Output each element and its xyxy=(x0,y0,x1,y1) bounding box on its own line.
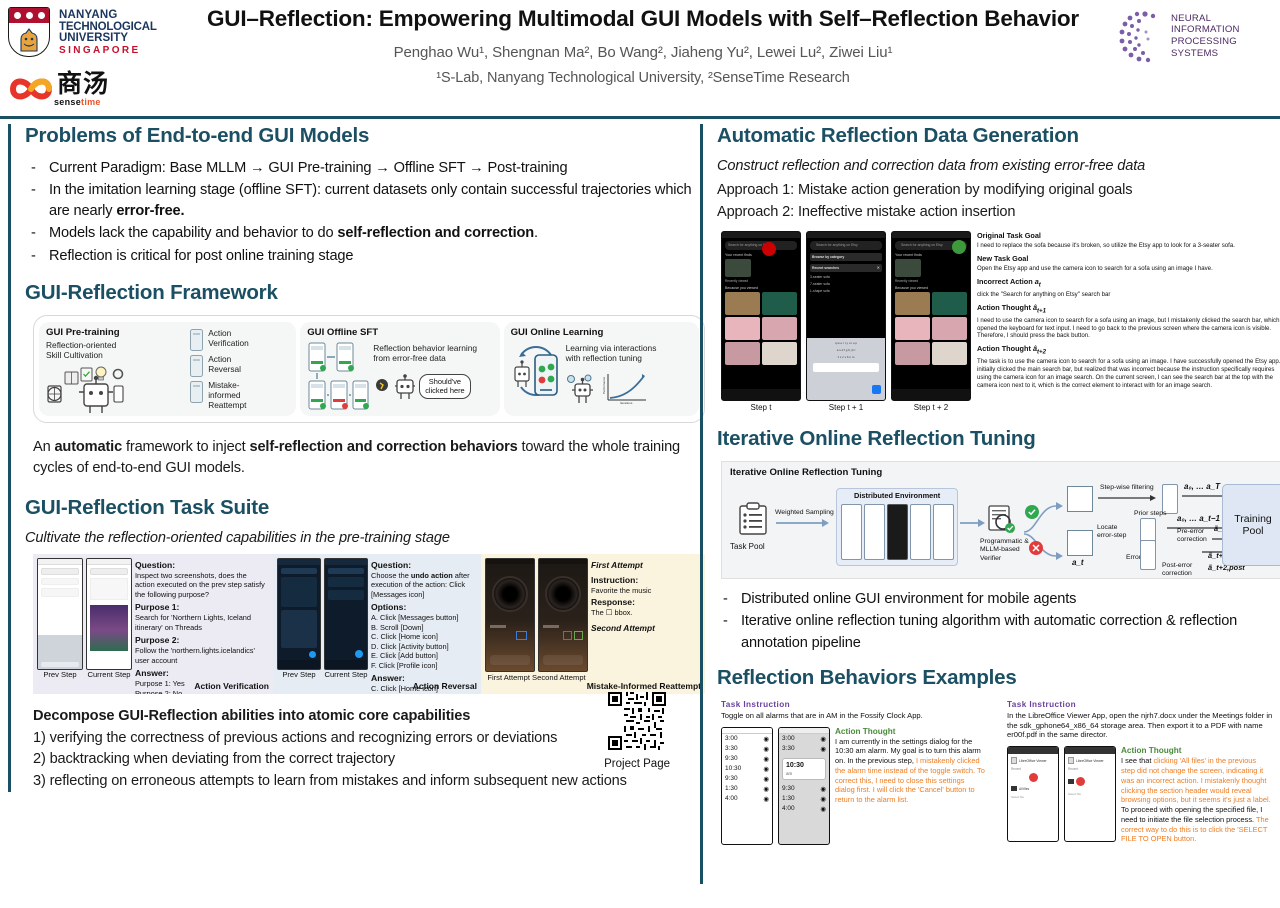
instruction-heading: Instruction: xyxy=(591,575,695,586)
svg-text:Performance: Performance xyxy=(602,376,606,394)
browse-category-label: Browse by category xyxy=(812,255,844,259)
sensetime-logo: 商汤 sensetime xyxy=(8,68,168,110)
idea-bulb-icon xyxy=(373,377,391,397)
framework-caption: An automatic framework to inject self-re… xyxy=(33,437,693,480)
arrow-right-icon xyxy=(776,518,830,528)
online-tuning-bullets: Distributed online GUI environment for m… xyxy=(717,589,1278,653)
block-body: I need to replace the sofa because it's … xyxy=(977,242,1280,250)
purpose-2-body: Follow the 'northern.lights.icelandics' … xyxy=(135,646,267,665)
task-panel-action-verification: Prev Step Current Step xyxy=(33,554,273,694)
training-pool-label: Training Pool xyxy=(1223,513,1280,538)
section-problems-title: Problems of End-to-end GUI Models xyxy=(25,124,692,148)
reflection-example-1: Task Instruction Toggle on all alarms th… xyxy=(721,700,995,884)
screenshot-step-t-plus-2: Search for anything on Etsy Your recent … xyxy=(891,231,971,401)
label-current-step: Current Step xyxy=(86,670,132,679)
task-panel-mistake-reattempt: First Attempt Second Attempt First Attem… xyxy=(481,554,705,694)
header-divider xyxy=(0,116,1280,119)
purpose-1-heading: Purpose 1: xyxy=(135,602,267,613)
block-body: Open the Etsy app and use the camera ico… xyxy=(977,265,1280,273)
screenshot-alarm-list: 3:00◉ 3:30◉ 9:30◉ 10:30◉ 9:30◉ 1:30◉ 4:0… xyxy=(721,727,773,845)
verifier-icon xyxy=(986,504,1018,536)
option-item: A. Click [Messages button] xyxy=(371,613,477,622)
screenshot-step-t: Search for anything on Etsy Your recent … xyxy=(721,231,801,401)
recent-search-item[interactable]: L-shape sofa xyxy=(810,289,882,293)
project-page-qr[interactable]: Project Page xyxy=(604,692,670,770)
section-online-tuning-title: Iterative Online Reflection Tuning xyxy=(717,427,1278,451)
figure-title: Iterative Online Reflection Tuning xyxy=(730,467,882,478)
robot-icon xyxy=(566,374,600,404)
sensetime-cn-text: 商汤 xyxy=(57,72,109,97)
list-item: Current Paradigm: Base MLLM → GUI Pre-tr… xyxy=(25,158,692,179)
option-item: B. Scroll [Down] xyxy=(371,623,477,632)
trajectory-stack-success xyxy=(1067,486,1093,512)
click-marker-red xyxy=(1076,777,1085,786)
action-thought-body: I am currently in the settings dialog fo… xyxy=(835,737,985,805)
problems-list: Current Paradigm: Base MLLM → GUI Pre-tr… xyxy=(25,158,692,267)
datagen-phone-strip: Search for anything on Etsy Your recent … xyxy=(721,231,971,419)
sensetime-infinity-icon xyxy=(8,74,54,104)
second-attempt-label: Second Attempt xyxy=(591,623,695,634)
action-reversal-icon xyxy=(190,355,203,377)
arrow-right-icon xyxy=(960,518,986,528)
author-list: Penghao Wu¹, Shengnan Ma², Bo Wang², Jia… xyxy=(168,44,1118,61)
online-tuning-figure: Iterative Online Reflection Tuning Task … xyxy=(721,461,1280,579)
response-heading: Response: xyxy=(591,597,695,608)
datagen-step: Search for anything on Etsy Browse by ca… xyxy=(806,231,886,419)
screenshot-prev-step xyxy=(277,558,321,670)
step-label: Step t + 2 xyxy=(891,403,971,412)
a-full-label: a₀, … a_T xyxy=(1184,482,1220,492)
neurips-text: NEURAL INFORMATION PROCESSING SYSTEMS xyxy=(1171,13,1275,60)
decompose-heading: Decompose GUI-Reflection abilities into … xyxy=(33,706,692,728)
section-framework-title: GUI-Reflection Framework xyxy=(25,281,692,305)
task-pool-label: Task Pool xyxy=(730,542,765,552)
a-prior-label: a₀, … a_t−1 xyxy=(1177,514,1220,524)
approach-1-line: Approach 1: Mistake action generation by… xyxy=(717,180,1278,202)
online-learning-illustration xyxy=(511,341,563,407)
block-heading: Action Thought ât+2 xyxy=(977,344,1280,356)
list-item: Reflection is critical for post online t… xyxy=(25,246,692,267)
panel-caption: Action Verification xyxy=(194,681,269,691)
ntu-line-4: SINGAPORE xyxy=(59,46,157,56)
capability-item: 1) verifying the correctness of previous… xyxy=(33,728,633,750)
framework-panel-title: GUI Offline SFT xyxy=(307,327,492,338)
reflection-examples-figure: Task Instruction Toggle on all alarms th… xyxy=(721,700,1280,884)
task-instruction-heading: Task Instruction xyxy=(721,700,995,709)
datagen-step: Search for anything on Etsy Your recent … xyxy=(721,231,801,419)
option-item: C. Click [Home icon] xyxy=(371,632,477,641)
block-body: click the "Search for anything on Etsy" … xyxy=(977,291,1280,299)
affiliation-list: ¹S-Lab, Nanyang Technological University… xyxy=(168,70,1118,86)
step-label: Step t + 1 xyxy=(806,403,886,412)
neurips-line-2: PROCESSING SYSTEMS xyxy=(1171,36,1275,59)
distributed-environment-label: Distributed Environment xyxy=(854,492,940,501)
framework-panel-pretraining: GUI Pre-training Reflection-orientedSkil… xyxy=(39,322,296,416)
task-suite-figure: Prev Step Current Step xyxy=(33,554,705,694)
right-column: Automatic Reflection Data Generation Con… xyxy=(700,124,1278,884)
performance-chart-icon: Performance Iterations xyxy=(602,370,648,404)
option-item: F. Click [Profile icon] xyxy=(371,661,477,670)
framework-panel-sub: Reflection behavior learningfrom error-f… xyxy=(373,343,477,364)
poster-root: NANYANG TECHNOLOGICAL UNIVERSITY SINGAPO… xyxy=(0,0,1280,908)
because-viewed-label: Because you viewed xyxy=(725,286,797,290)
framework-figure: GUI Pre-training Reflection-orientedSkil… xyxy=(33,315,705,423)
capability-item: 2) backtracking when deviating from the … xyxy=(33,749,633,771)
purpose-2-heading: Purpose 2: xyxy=(135,635,267,646)
click-marker-red xyxy=(1029,773,1038,782)
option-item: E. Click [Add button] xyxy=(371,651,477,660)
option-item: D. Click [Activity button] xyxy=(371,642,477,651)
task-instruction-heading: Task Instruction xyxy=(1007,700,1280,709)
question-body: Inspect two screenshots, does the action… xyxy=(135,571,267,599)
capability-item: 3) reflecting on erroneous attempts to l… xyxy=(33,771,633,793)
list-item: Models lack the capability and behavior … xyxy=(25,223,692,244)
list-item: Distributed online GUI environment for m… xyxy=(717,589,1278,610)
section-task-suite-title: GUI-Reflection Task Suite xyxy=(25,496,692,520)
screenshot-step-t-plus-1: Search for anything on Etsy Browse by ca… xyxy=(806,231,886,401)
block-body: I need to use the camera icon to search … xyxy=(977,317,1280,341)
phone-thumb-error xyxy=(1140,540,1156,570)
screenshot-libreoffice-2: LibreOffice Viewer Recent Select file xyxy=(1064,746,1116,842)
panel-caption: Action Reversal xyxy=(413,681,477,691)
a-t-label: a_t xyxy=(1072,558,1084,568)
pre-error-correction-label: Pre-error correction xyxy=(1177,528,1207,544)
step-filtering-label: Step-wise filtering xyxy=(1100,484,1154,492)
action-thought-heading: Action Thought xyxy=(1121,746,1271,755)
onscreen-keyboard[interactable]: q w e r t y u i o p a s d f g h j k l z … xyxy=(807,338,885,400)
block-heading: Incorrect Action at xyxy=(977,277,1280,289)
ntu-logo: NANYANG TECHNOLOGICAL UNIVERSITY SINGAPO… xyxy=(8,5,158,61)
screenshot-second-attempt xyxy=(538,558,588,672)
ntu-line-3: UNIVERSITY xyxy=(59,33,157,45)
panel-caption: Mistake-Informed Reattempt xyxy=(587,681,701,691)
sensetime-en-text: sensetime xyxy=(54,97,109,107)
title-block: GUI–Reflection: Empowering Multimodal GU… xyxy=(168,6,1118,86)
answer-heading: Answer: xyxy=(135,668,267,679)
training-pool-box: Training Pool xyxy=(1222,484,1280,566)
ntu-crest-icon xyxy=(8,7,54,59)
datagen-annotation-text: Original Task Goal I need to replace the… xyxy=(977,231,1280,419)
robot-icon xyxy=(394,374,416,400)
svg-text:Iterations: Iterations xyxy=(620,401,633,404)
block-heading: Action Thought ât+1 xyxy=(977,303,1280,315)
lion-icon xyxy=(15,25,43,55)
section-reflection-examples-title: Reflection Behaviors Examples xyxy=(717,666,1278,690)
neurips-logo: NEURAL INFORMATION PROCESSING SYSTEMS xyxy=(1115,6,1275,66)
action-verification-icon xyxy=(190,329,203,351)
label-current-step: Current Step xyxy=(324,670,368,679)
page-title: GUI–Reflection: Empowering Multimodal GU… xyxy=(168,6,1118,32)
datagen-figure: Search for anything on Etsy Your recent … xyxy=(721,231,1280,419)
pretraining-robot-illustration xyxy=(46,362,156,414)
recent-search-item[interactable]: 3-seater sofa xyxy=(810,275,882,279)
framework-panel-title: GUI Online Learning xyxy=(511,327,692,338)
datagen-subtitle: Construct reflection and correction data… xyxy=(717,158,1278,174)
label-prev-step: Prev Step xyxy=(277,670,321,679)
locate-error-step-label: Locate error-step xyxy=(1097,524,1126,540)
question-body: Choose the undo action after execution o… xyxy=(371,571,477,599)
first-attempt-label: First Attempt xyxy=(591,560,695,571)
block-body: The task is to use the camera icon to se… xyxy=(977,358,1280,390)
screenshot-libreoffice-1: LibreOffice Viewer Recent All files Sele… xyxy=(1007,746,1059,842)
mistake-reattempt-icon xyxy=(190,381,203,403)
close-icon[interactable]: ✕ xyxy=(877,265,880,270)
options-heading: Options: xyxy=(371,602,477,613)
task-instruction-body: Toggle on all alarms that are in AM in t… xyxy=(721,711,995,721)
label-attempts: First Attempt Second Attempt xyxy=(485,673,588,682)
offline-sft-flow-illustration xyxy=(307,341,369,413)
block-heading: Original Task Goal xyxy=(977,231,1280,240)
instruction-body: Favorite the music xyxy=(591,586,695,595)
framework-panel-online-learning: GUI Online Learning xyxy=(504,322,699,416)
screenshot-current-step xyxy=(86,558,132,670)
prior-steps-label: Prior steps xyxy=(1134,510,1166,518)
response-body: The ☐ bbox. xyxy=(591,608,695,617)
task-panel-action-reversal: Prev Step Current Step xyxy=(273,554,481,694)
framework-panel-offline-sft: GUI Offline SFT xyxy=(300,322,499,416)
purpose-1-body: Search for 'Northern Lights, Iceland iti… xyxy=(135,613,267,632)
action-thought-body: I see that clicking 'All files' in the p… xyxy=(1121,756,1271,844)
task-pool-icon xyxy=(736,502,770,536)
trajectory-stack-error xyxy=(1067,530,1093,556)
framework-panel-sub: Learning via interactionswith reflection… xyxy=(566,343,657,364)
list-item: Iterative online reflection tuning algor… xyxy=(717,611,1278,653)
recent-searches-label: Recent searches xyxy=(812,266,839,270)
action-thought-heading: Action Thought xyxy=(835,727,985,736)
question-heading: Question: xyxy=(371,560,477,571)
list-item: In the imitation learning stage (offline… xyxy=(25,180,692,222)
datagen-step: Search for anything on Etsy Your recent … xyxy=(891,231,971,419)
approach-2-line: Approach 2: Ineffective mistake action i… xyxy=(717,202,1278,224)
task-instruction-body: In the LibreOffice Viewer App, open the … xyxy=(1007,711,1280,741)
recently-viewed-label: Recently viewed xyxy=(725,279,797,283)
question-heading: Question: xyxy=(135,560,267,571)
post-error-correction-label: Post-error correction xyxy=(1162,562,1192,578)
reflection-example-2: Task Instruction In the LibreOffice View… xyxy=(1007,700,1280,884)
section-datagen-title: Automatic Reflection Data Generation xyxy=(717,124,1278,148)
recent-search-item[interactable]: 7-seater sofa xyxy=(810,282,882,286)
task-suite-subtitle: Cultivate the reflection-oriented capabi… xyxy=(25,530,692,546)
qr-code-icon[interactable] xyxy=(608,692,666,750)
qr-label: Project Page xyxy=(604,758,670,770)
screenshot-prev-step xyxy=(37,558,83,670)
recent-finds-label: Your recent finds xyxy=(725,253,797,257)
thought-bubble: Should'veclicked here xyxy=(419,374,470,399)
screenshot-first-attempt xyxy=(485,558,535,672)
step-label: Step t xyxy=(721,403,801,412)
left-column: Problems of End-to-end GUI Models Curren… xyxy=(8,124,692,792)
poster-header: NANYANG TECHNOLOGICAL UNIVERSITY SINGAPO… xyxy=(0,0,1280,118)
weighted-sampling-label: Weighted Sampling xyxy=(775,509,834,517)
label-prev-step: Prev Step xyxy=(37,670,83,679)
neurips-line-1: NEURAL INFORMATION xyxy=(1171,13,1275,36)
neurips-swirl-icon xyxy=(1115,8,1171,64)
click-marker-green xyxy=(952,240,966,254)
block-heading: New Task Goal xyxy=(977,254,1280,263)
screenshot-alarm-settings-dialog: 3:00◉ 3:30◉ 10:30 am 9:30◉ 1:30◉ 4:00◉ xyxy=(778,727,830,845)
arrow-right-icon xyxy=(1098,494,1158,502)
screenshot-current-step xyxy=(324,558,368,670)
